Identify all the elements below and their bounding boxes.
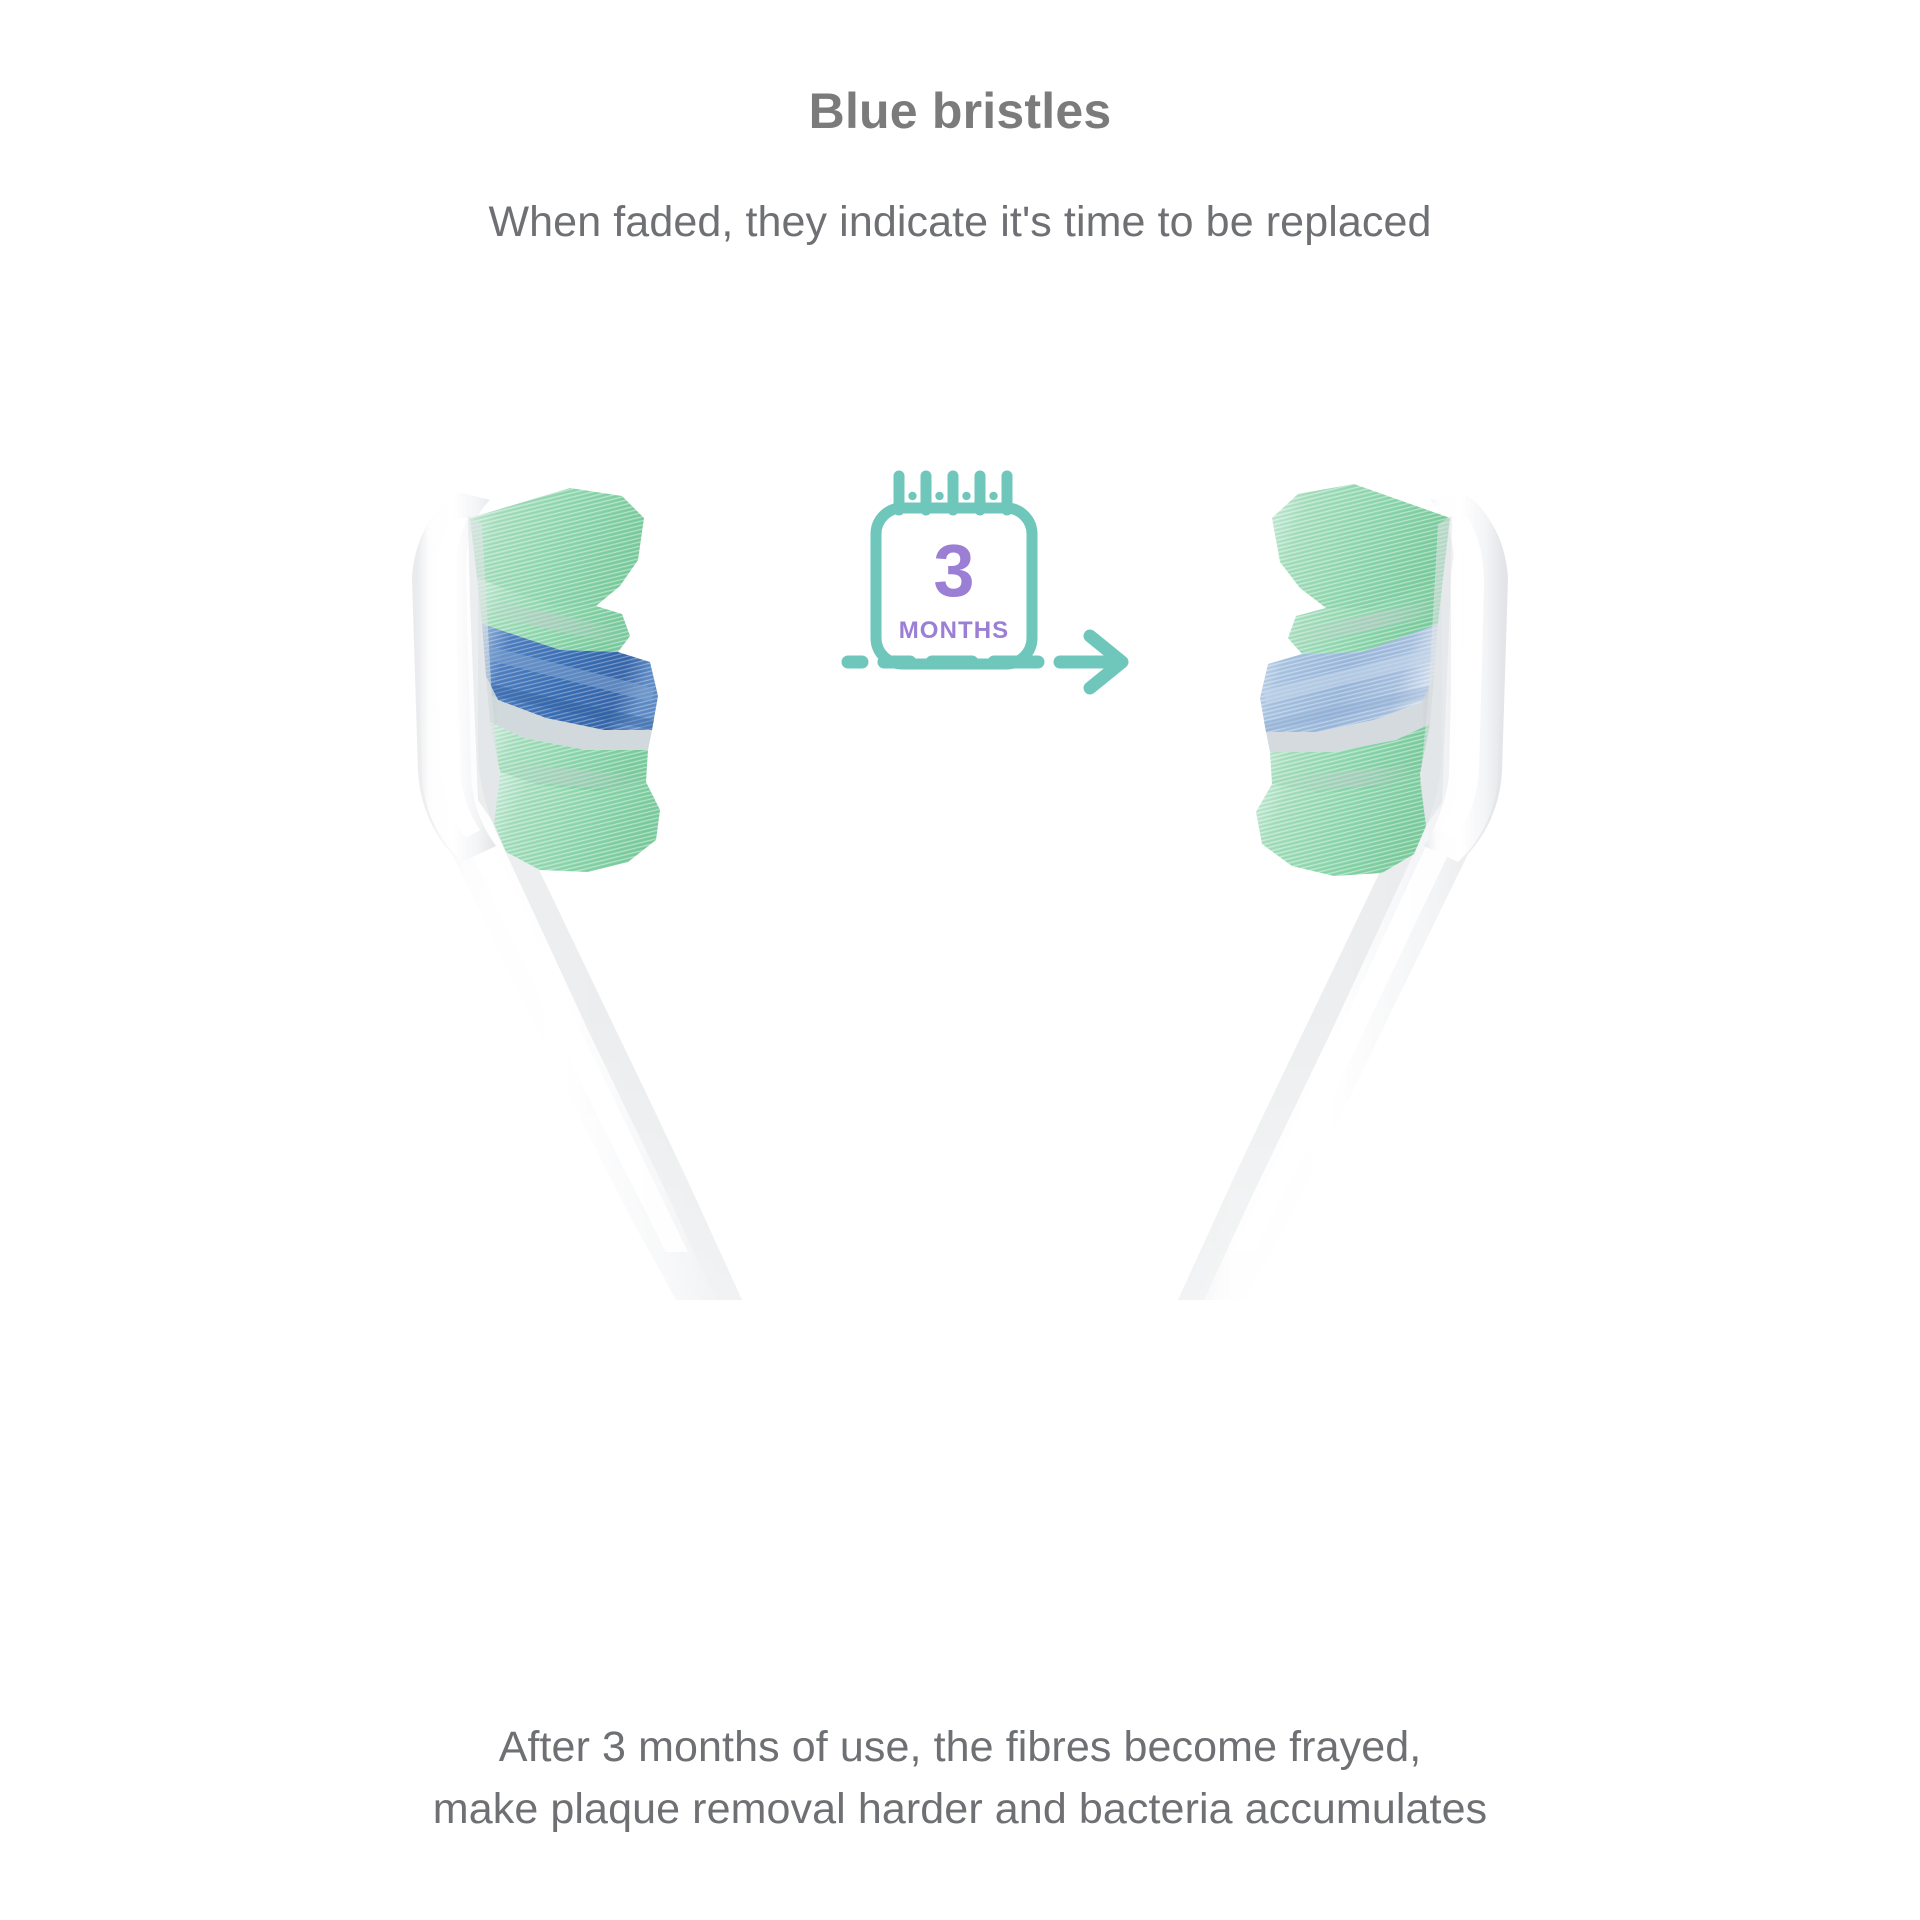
page-title: Blue bristles xyxy=(0,82,1920,140)
footer-caption-line-1: After 3 months of use, the fibres become… xyxy=(0,1716,1920,1778)
page-subtitle: When faded, they indicate it's time to b… xyxy=(0,198,1920,247)
footer-caption-line-2: make plaque removal harder and bacteria … xyxy=(0,1778,1920,1840)
badge-number: 3 xyxy=(933,529,974,612)
footer-caption: After 3 months of use, the fibres become… xyxy=(0,1716,1920,1840)
infographic-page: Blue bristles When faded, they indicate … xyxy=(0,0,1920,1920)
illustration-stage: 3 MONTHS xyxy=(0,400,1920,1500)
three-months-badge-group: 3 MONTHS xyxy=(0,400,1920,1500)
badge-unit-label: MONTHS xyxy=(899,617,1010,644)
